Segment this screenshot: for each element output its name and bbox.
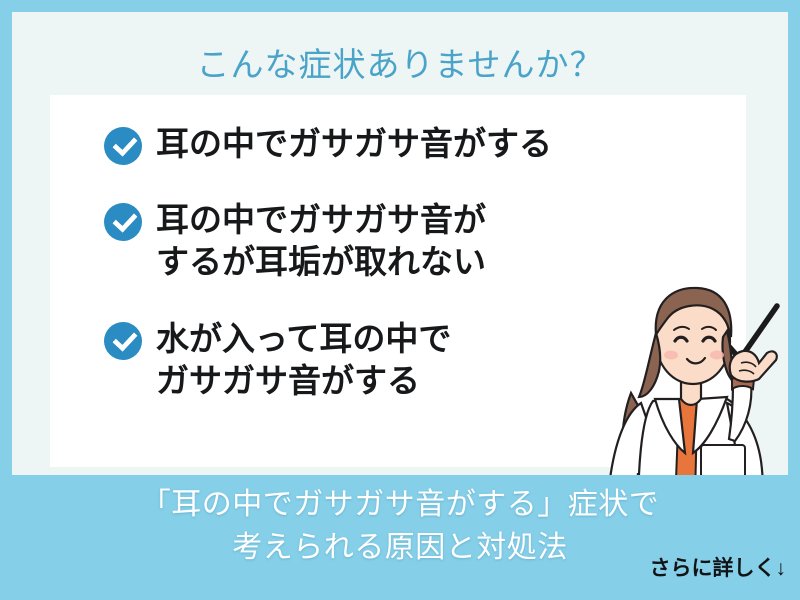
- check-circle-icon: [104, 203, 142, 241]
- check-circle-icon: [104, 127, 142, 165]
- symptom-card: 耳の中でガサガサ音がする 耳の中でガサガサ音が するが耳垢が取れない 水が入って…: [50, 95, 746, 467]
- list-item-label: 耳の中でガサガサ音がする: [156, 123, 552, 165]
- check-circle-icon: [104, 322, 142, 360]
- bottom-banner: 「耳の中でガサガサ音がする」症状で 考えられる原因と対処法 さらに詳しく↓: [0, 475, 800, 600]
- poster-root: こんな症状ありませんか？ 耳の中でガサガサ音がする 耳の中でガサガサ音が するが…: [0, 0, 800, 600]
- list-item: 耳の中でガサガサ音が するが耳垢が取れない: [104, 199, 684, 283]
- more-details-link[interactable]: さらに詳しく↓: [650, 552, 787, 582]
- list-item: 水が入って耳の中で ガサガサ音がする: [104, 318, 684, 402]
- list-item-label: 水が入って耳の中で ガサガサ音がする: [156, 318, 451, 402]
- list-item-label: 耳の中でガサガサ音が するが耳垢が取れない: [156, 199, 486, 283]
- list-item: 耳の中でガサガサ音がする: [104, 123, 684, 165]
- symptom-list: 耳の中でガサガサ音がする 耳の中でガサガサ音が するが耳垢が取れない 水が入って…: [104, 123, 684, 402]
- page-title: こんな症状ありませんか？: [12, 38, 788, 86]
